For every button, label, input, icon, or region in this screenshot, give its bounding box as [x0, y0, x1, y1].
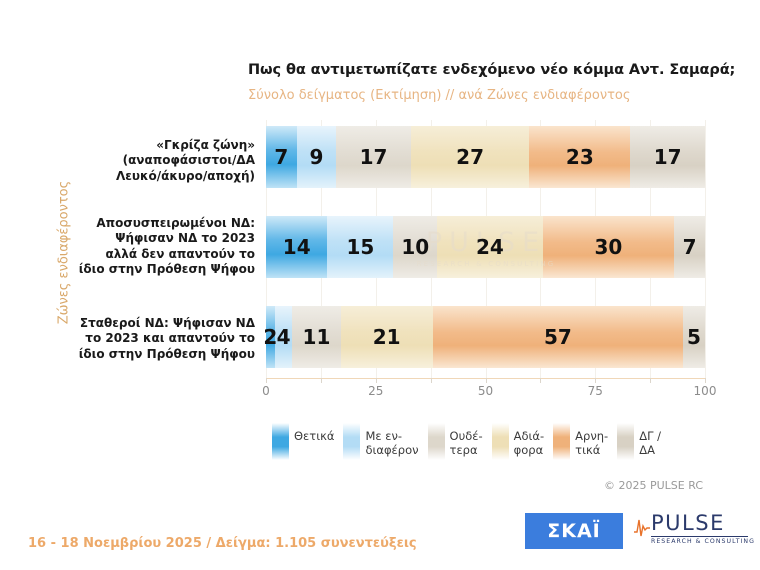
chart-legend: ΘετικάΜε εν- διαφέρονΟυδέ- τεραΑδιά- φορ… [272, 423, 661, 460]
x-axis: 0255075100 [266, 378, 705, 404]
legend-label: ΔΓ / ΔΑ [639, 423, 661, 457]
legend-item[interactable]: Αρνη- τικά [553, 423, 608, 460]
bar-segment[interactable]: 57 [433, 306, 683, 368]
legend-swatch [343, 423, 360, 460]
bar-segment[interactable]: 24 [437, 216, 542, 278]
skai-logo: ΣΚΑΪ [525, 513, 623, 549]
bar-segment-value: 17 [654, 147, 682, 167]
category-label: Σταθεροί ΝΔ: Ψήφισαν ΝΔτο 2023 και απαντ… [55, 316, 255, 362]
x-axis-tick [540, 378, 541, 383]
footer-divider [0, 508, 760, 509]
bar-segment-value: 5 [687, 327, 701, 347]
bar-segment[interactable]: 4 [275, 306, 293, 368]
legend-swatch [492, 423, 509, 460]
legend-label: Αρνη- τικά [575, 423, 608, 457]
x-axis-tick [266, 378, 267, 383]
bar-segment[interactable]: 21 [341, 306, 433, 368]
x-axis-tick [595, 378, 596, 383]
bar-segment-value: 17 [360, 147, 388, 167]
bar-segment[interactable]: 17 [336, 126, 411, 188]
bar-segment-value: 21 [373, 327, 401, 347]
x-axis-tick [321, 378, 322, 383]
pulse-logo-rule [651, 536, 748, 537]
pulse-logo: PULSE RESEARCH & CONSULTING [634, 512, 750, 550]
bar-segment[interactable]: 9 [297, 126, 337, 188]
legend-swatch [553, 423, 570, 460]
x-axis-tick [650, 378, 651, 383]
x-axis-tick [376, 378, 377, 383]
bar-segment[interactable]: 15 [327, 216, 393, 278]
x-axis-tick-label: 75 [588, 384, 603, 398]
bar-segment-value: 9 [310, 147, 324, 167]
category-label-list: «Γκρίζα ζώνη»(αναποφάσιστοι/ΔΑΛευκό/άκυρ… [55, 120, 255, 378]
bar-segment-value: 24 [476, 237, 504, 257]
bar-segment[interactable]: 23 [529, 126, 630, 188]
bar-segment[interactable]: 7 [266, 126, 297, 188]
bar-segment[interactable]: 14 [266, 216, 327, 278]
legend-item[interactable]: Αδιά- φορα [492, 423, 545, 460]
pulse-logo-text: PULSE [651, 513, 725, 534]
bar-row[interactable]: 241121575 [266, 306, 705, 368]
bar-segment[interactable]: 7 [674, 216, 705, 278]
legend-swatch [428, 423, 445, 460]
page-subtitle: Σύνολο δείγματος (Εκτίμηση) // ανά Ζώνες… [248, 88, 631, 103]
gridline [705, 120, 706, 378]
legend-label: Ουδέ- τερα [450, 423, 483, 457]
legend-label: Με εν- διαφέρον [365, 423, 418, 457]
category-label: «Γκρίζα ζώνη»(αναποφάσιστοι/ΔΑΛευκό/άκυρ… [55, 138, 255, 184]
bar-segment-value: 23 [566, 147, 594, 167]
bar-segment-value: 7 [683, 237, 697, 257]
bar-segment[interactable]: 2 [266, 306, 275, 368]
pulse-wave-icon [634, 516, 650, 538]
bar-segment-value: 30 [594, 237, 622, 257]
legend-item[interactable]: Με εν- διαφέρον [343, 423, 418, 460]
bar-segment[interactable]: 10 [393, 216, 437, 278]
legend-swatch [617, 423, 634, 460]
legend-swatch [272, 423, 289, 460]
bar-segment[interactable]: 30 [543, 216, 675, 278]
category-label: Αποσυσπειρωμένοι ΝΔ:Ψήφισαν ΝΔ το 2023αλ… [55, 216, 255, 277]
bar-segment-value: 4 [277, 327, 291, 347]
pulse-logo-subtext: RESEARCH & CONSULTING [651, 538, 755, 545]
bar-segment-value: 15 [346, 237, 374, 257]
bar-segment[interactable]: 27 [411, 126, 530, 188]
x-axis-tick-label: 50 [478, 384, 493, 398]
bar-row[interactable]: 7917272317 [266, 126, 705, 188]
bar-segment[interactable]: 5 [683, 306, 705, 368]
page-title: Πως θα αντιμετωπίζατε ενδεχόμενο νέο κόμ… [248, 62, 735, 78]
x-axis-tick [431, 378, 432, 383]
bar-segment-value: 7 [274, 147, 288, 167]
chart-plot-area: PULSE RESEARCH & CONSULTING 791727231714… [266, 120, 705, 378]
footer-date-sample: 16 - 18 Νοεμβρίου 2025 / Δείγμα: 1.105 σ… [28, 536, 417, 551]
copyright-text: © 2025 PULSE RC [604, 479, 703, 492]
legend-item[interactable]: Θετικά [272, 423, 334, 460]
x-axis-tick-label: 100 [694, 384, 717, 398]
bar-segment[interactable]: 17 [630, 126, 705, 188]
bar-segment-value: 14 [283, 237, 311, 257]
legend-item[interactable]: ΔΓ / ΔΑ [617, 423, 661, 460]
bar-segment-value: 10 [401, 237, 429, 257]
bar-segment-value: 57 [544, 327, 572, 347]
x-axis-tick-label: 0 [262, 384, 270, 398]
bar-segment-value: 11 [303, 327, 331, 347]
x-axis-tick-label: 25 [368, 384, 383, 398]
legend-label: Θετικά [294, 423, 334, 443]
bar-segment[interactable]: 11 [292, 306, 340, 368]
bar-row[interactable]: 14151024307 [266, 216, 705, 278]
legend-item[interactable]: Ουδέ- τερα [428, 423, 483, 460]
legend-label: Αδιά- φορα [514, 423, 545, 457]
x-axis-tick [705, 378, 706, 383]
bar-segment-value: 2 [263, 327, 277, 347]
bar-segment-value: 27 [456, 147, 484, 167]
skai-logo-text: ΣΚΑΪ [547, 522, 600, 541]
x-axis-tick [486, 378, 487, 383]
